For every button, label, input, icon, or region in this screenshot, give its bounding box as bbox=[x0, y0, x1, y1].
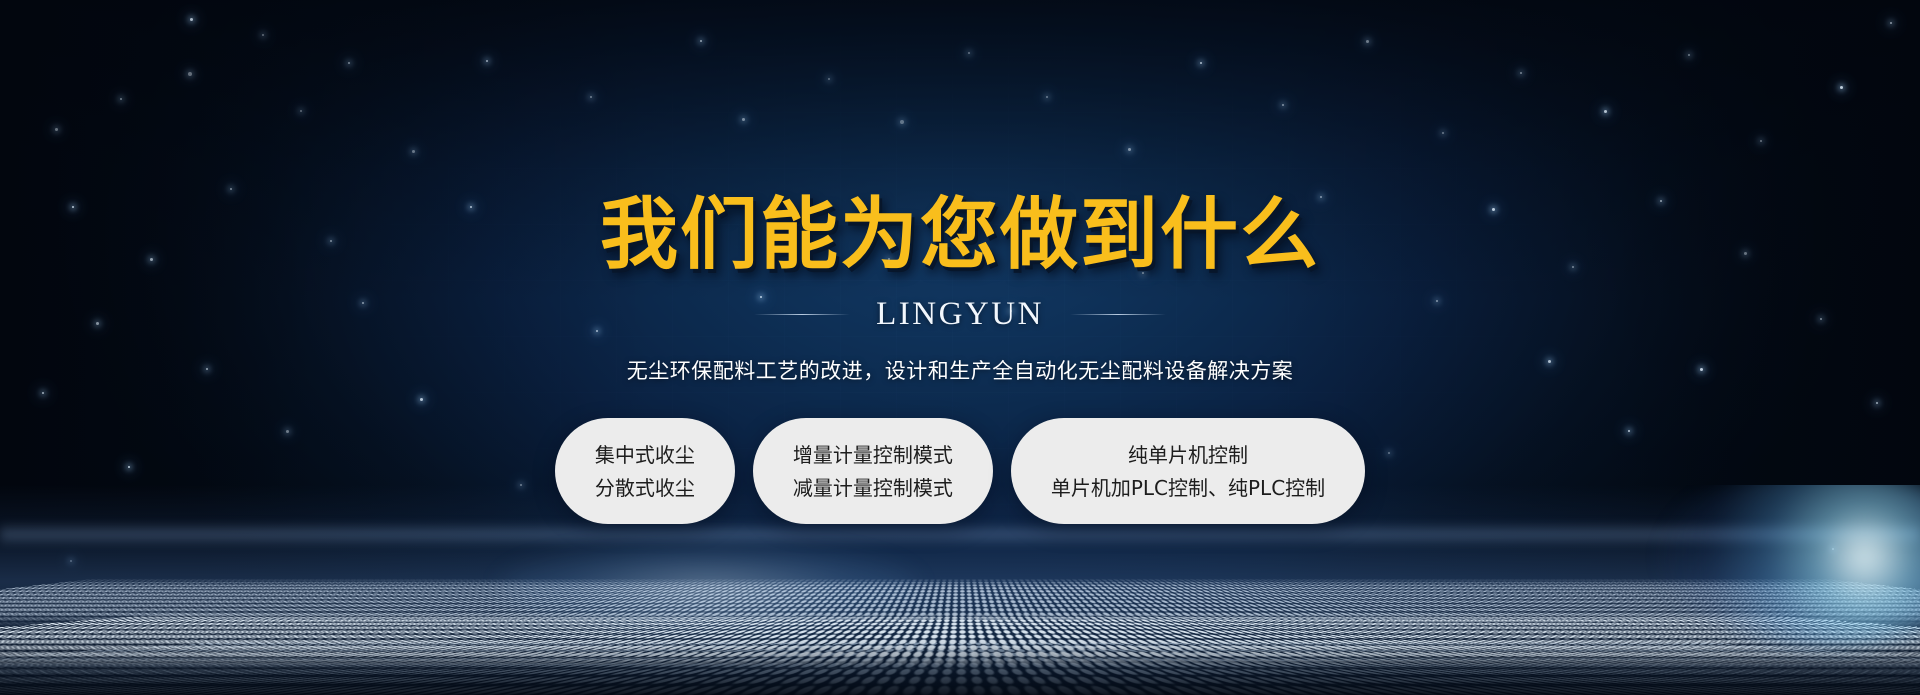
banner-content: 我们能为您做到什么 LINGYUN 无尘环保配料工艺的改进，设计和生产全自动化无… bbox=[0, 0, 1920, 695]
hero-banner: 我们能为您做到什么 LINGYUN 无尘环保配料工艺的改进，设计和生产全自动化无… bbox=[0, 0, 1920, 695]
banner-headline: 我们能为您做到什么 bbox=[600, 196, 1320, 274]
pill-line-secondary: 单片机加PLC控制、纯PLC控制 bbox=[1051, 476, 1325, 500]
pill-line-secondary: 减量计量控制模式 bbox=[793, 476, 953, 500]
divider-line-left bbox=[754, 314, 850, 315]
feature-pill-dust-collection[interactable]: 集中式收尘 分散式收尘 bbox=[555, 418, 735, 524]
feature-pill-control-system[interactable]: 纯单片机控制 单片机加PLC控制、纯PLC控制 bbox=[1011, 418, 1365, 524]
pill-line-primary: 增量计量控制模式 bbox=[793, 443, 953, 467]
divider-line-right bbox=[1070, 314, 1166, 315]
pill-line-secondary: 分散式收尘 bbox=[595, 476, 695, 500]
pill-line-primary: 纯单片机控制 bbox=[1128, 443, 1248, 467]
pill-line-primary: 集中式收尘 bbox=[595, 443, 695, 467]
banner-description: 无尘环保配料工艺的改进，设计和生产全自动化无尘配料设备解决方案 bbox=[627, 355, 1294, 385]
feature-pill-metering-mode[interactable]: 增量计量控制模式 减量计量控制模式 bbox=[753, 418, 993, 524]
brand-row: LINGYUN bbox=[754, 296, 1166, 333]
brand-name-en: LINGYUN bbox=[876, 296, 1044, 333]
feature-pill-group: 集中式收尘 分散式收尘 增量计量控制模式 减量计量控制模式 纯单片机控制 单片机… bbox=[555, 418, 1365, 524]
